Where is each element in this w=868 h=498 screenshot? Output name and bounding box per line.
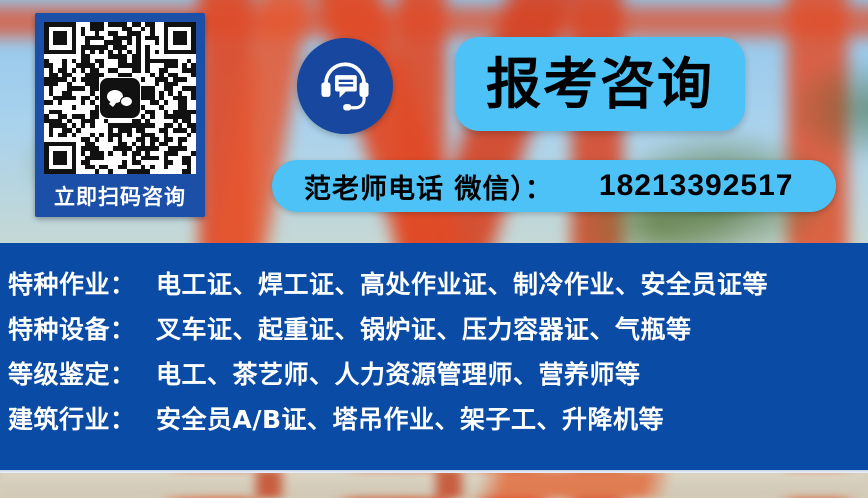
info-row-items: 叉车证、起重证、锅炉证、压力容器证、气瓶等 <box>156 310 692 346</box>
info-panel: 特种作业： 电工证、焊工证、高处作业证、制冷作业、安全员证等 特种设备： 叉车证… <box>0 243 868 470</box>
qr-caption: 立即扫码咨询 <box>35 174 205 217</box>
info-row-category: 特种作业： <box>8 265 156 301</box>
info-row-items: 安全员A/B证、塔吊作业、架子工、升降机等 <box>156 400 664 436</box>
panel-bottom-hairline <box>0 470 868 473</box>
info-row: 建筑行业： 安全员A/B证、塔吊作业、架子工、升降机等 <box>0 400 868 445</box>
phone-number[interactable]: 18213392517 <box>599 169 794 203</box>
info-row-category: 建筑行业： <box>8 400 156 436</box>
info-row-category: 等级鉴定： <box>8 355 156 391</box>
promo-poster: 立即扫码咨询 报考咨询 范老师电话 微信）： 18213392517 特种作业：… <box>0 0 868 498</box>
qr-card[interactable]: 立即扫码咨询 <box>35 13 205 217</box>
title-pill-label: 报考咨询 <box>486 57 714 112</box>
background-photo-bottom <box>0 470 868 498</box>
title-pill[interactable]: 报考咨询 <box>455 37 745 131</box>
phone-pill[interactable]: 范老师电话 微信）： 18213392517 <box>272 160 836 212</box>
info-row: 特种作业： 电工证、焊工证、高处作业证、制冷作业、安全员证等 <box>0 265 868 310</box>
info-row-items: 电工、茶艺师、人力资源管理师、营养师等 <box>156 355 641 391</box>
info-row: 特种设备： 叉车证、起重证、锅炉证、压力容器证、气瓶等 <box>0 310 868 355</box>
info-row-items: 电工证、焊工证、高处作业证、制冷作业、安全员证等 <box>156 265 768 301</box>
headset-support-icon <box>297 38 393 134</box>
info-row: 等级鉴定： 电工、茶艺师、人力资源管理师、营养师等 <box>0 355 868 400</box>
wechat-icon <box>100 78 140 118</box>
phone-pill-label: 范老师电话 微信）： <box>304 167 553 206</box>
info-row-category: 特种设备： <box>8 310 156 346</box>
wechat-qr-code[interactable] <box>44 22 196 174</box>
